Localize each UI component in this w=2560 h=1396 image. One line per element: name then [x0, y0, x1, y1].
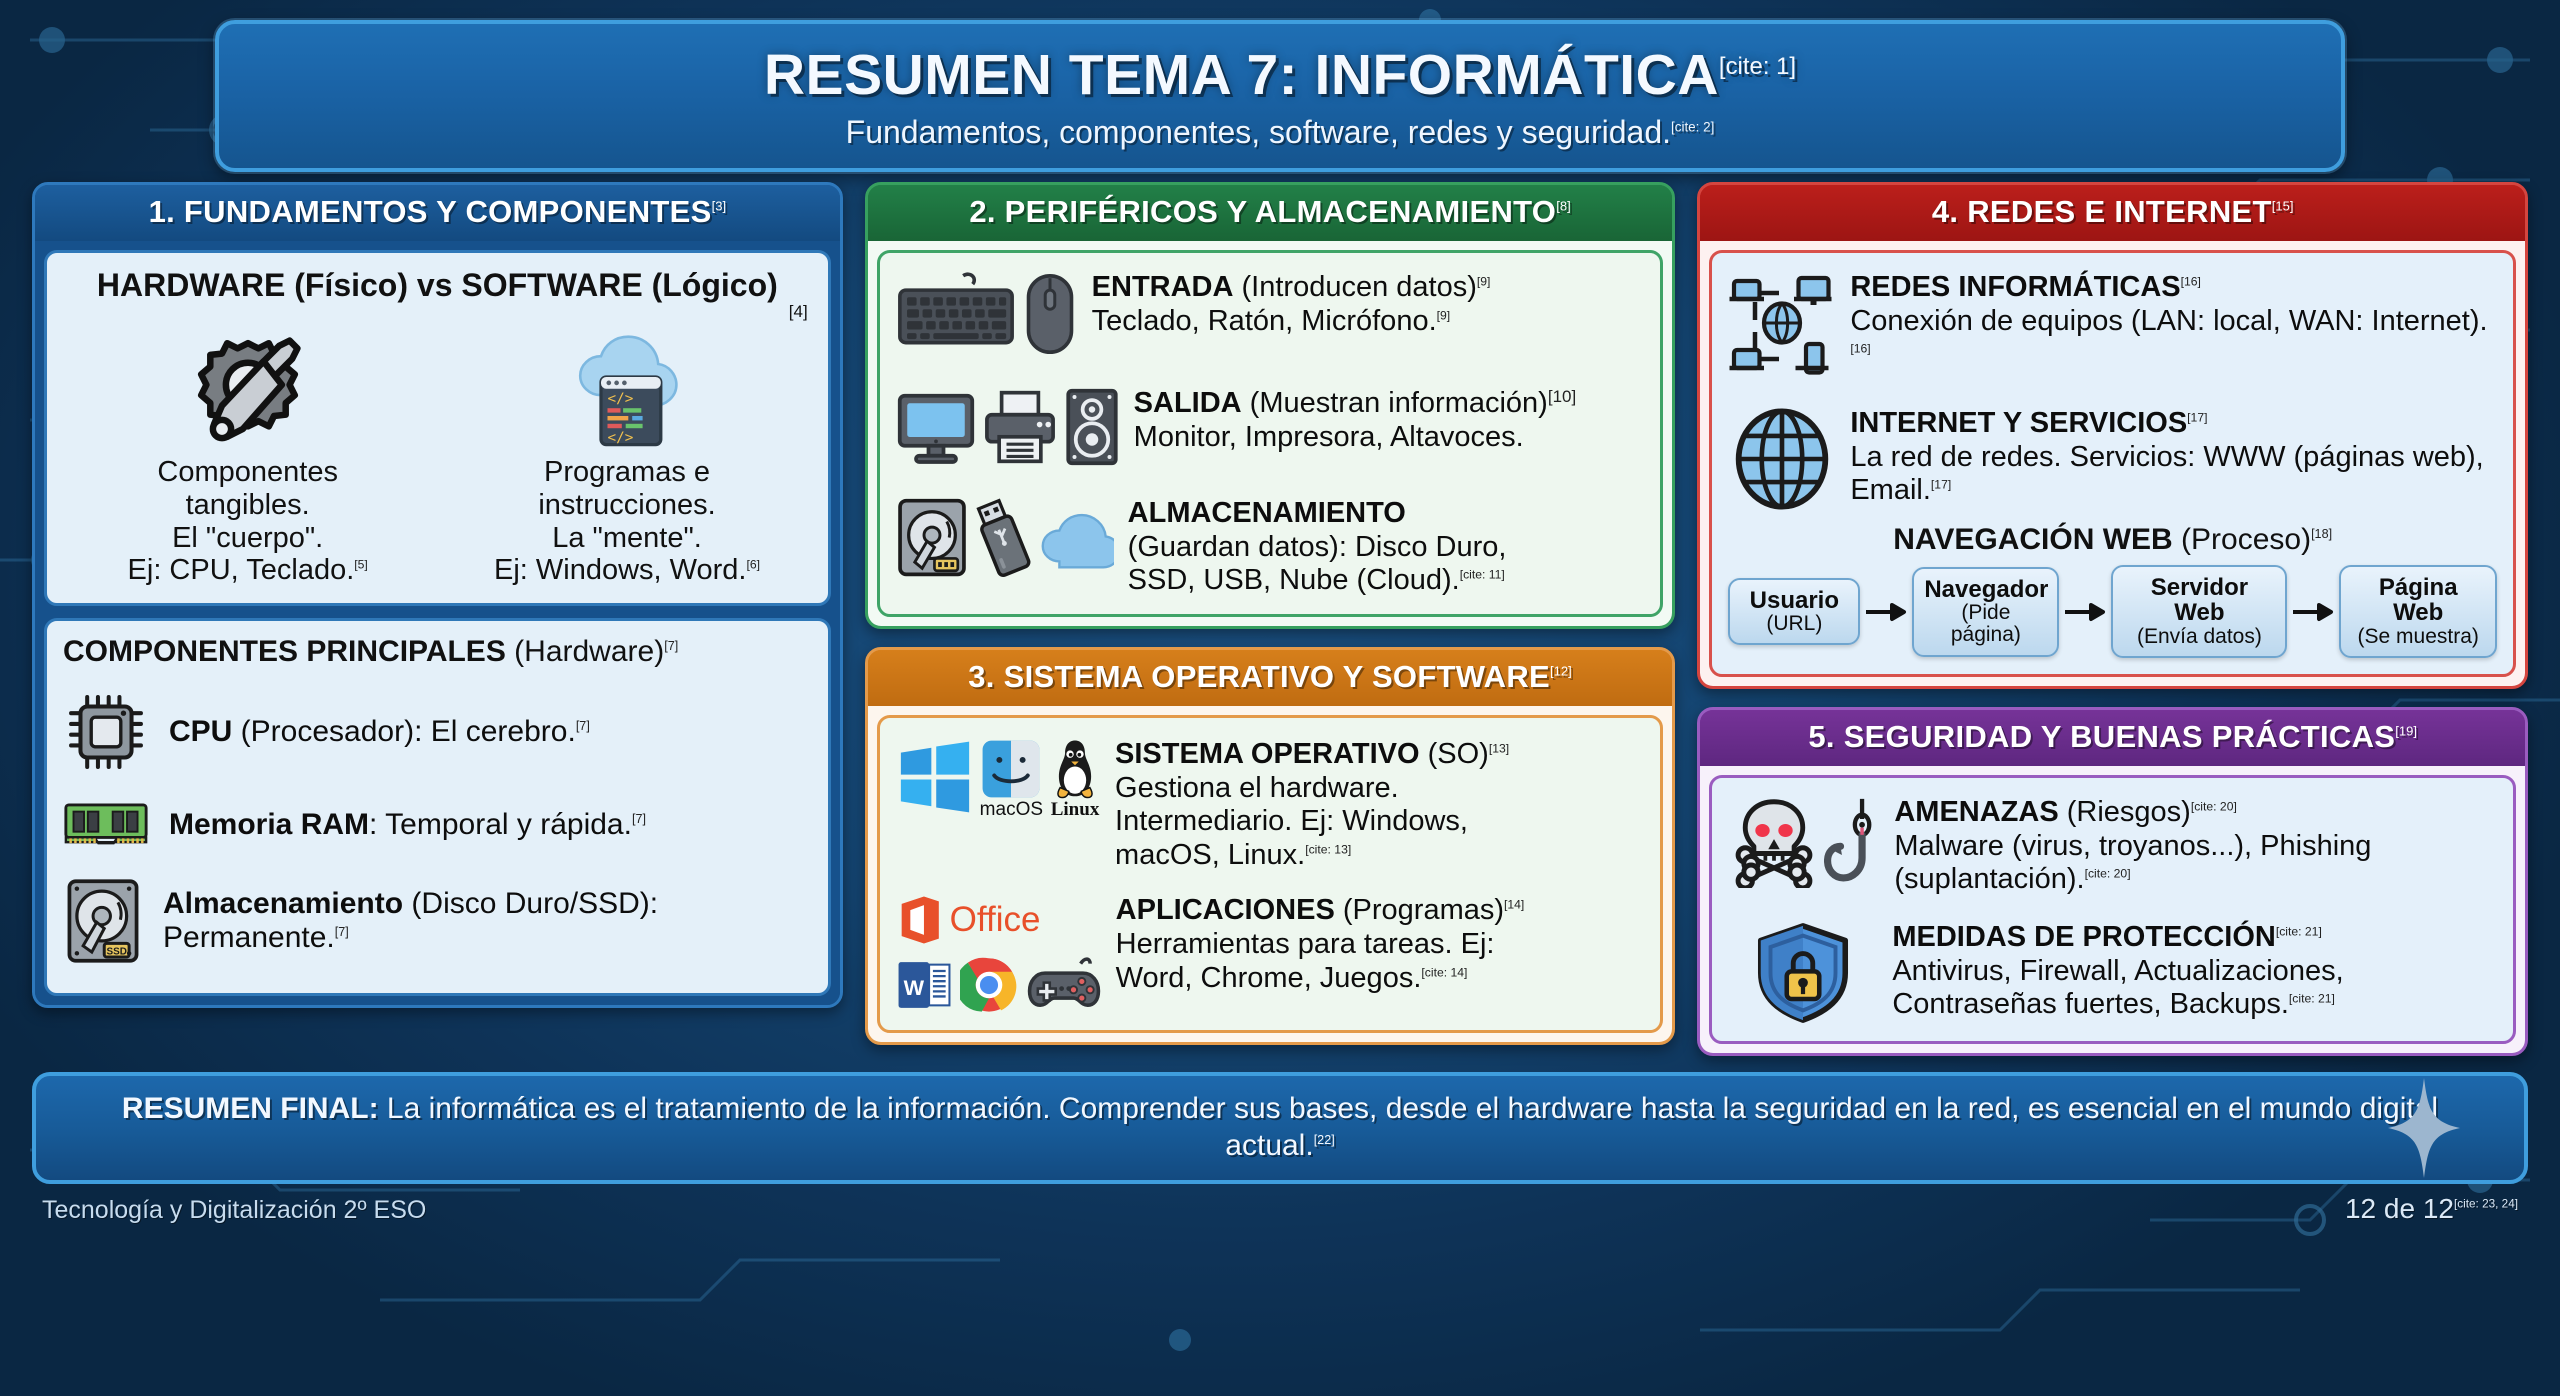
- section-3-body: macOS: [868, 706, 1673, 1043]
- network-devices-icon: [1728, 271, 1836, 381]
- infographic-page: RESUMEN TEMA 7: INFORMÁTICA[cite: 1] Fun…: [0, 0, 2560, 1396]
- section-seguridad: 5. SEGURIDAD Y BUENAS PRÁCTICAS[19]: [1697, 707, 2528, 1056]
- section-3-citation: [12]: [1550, 664, 1572, 679]
- section-1-citation: [3]: [712, 199, 726, 214]
- course-label: Tecnología y Digitalización 2º ESO: [42, 1196, 426, 1225]
- macos-finder-icon: macOS: [980, 738, 1043, 819]
- printer-icon: [982, 387, 1058, 467]
- section-4-citation: [15]: [2272, 199, 2294, 214]
- windows-logo-icon: [896, 738, 974, 816]
- medidas-proteccion-text: MEDIDAS DE PROTECCIÓN[cite: 21] Antiviru…: [1892, 921, 2497, 1022]
- flow-step-navegador[interactable]: Navegador (Pide página): [1912, 567, 2059, 657]
- amenazas-icons: [1728, 796, 1880, 888]
- keyboard-icon: [896, 271, 1016, 357]
- speaker-icon: [1064, 387, 1120, 467]
- macos-label: macOS: [980, 800, 1043, 819]
- internet-servicios-text: INTERNET Y SERVICIOS[17] La red de redes…: [1850, 407, 2497, 508]
- cpu-chip-icon: [63, 689, 149, 775]
- redes-informaticas-text: REDES INFORMÁTICAS[16] Conexión de equip…: [1850, 271, 2497, 372]
- componentes-principales-card: COMPONENTES PRINCIPALES (Hardware)[7]: [44, 618, 831, 996]
- usb-drive-icon: [974, 497, 1032, 583]
- hardware-software-card: HARDWARE (Físico) vs SOFTWARE (Lógico) […: [44, 250, 831, 606]
- list-item: SSD Almacenamiento (Disco Duro/SSD): Per…: [63, 875, 812, 967]
- arrow-icon: [1864, 600, 1908, 624]
- page-number: 12 de 12[cite: 23, 24]: [2345, 1193, 2518, 1225]
- list-item: Office W: [896, 894, 1645, 1014]
- svg-text:W: W: [903, 976, 924, 1001]
- page-title: RESUMEN TEMA 7: INFORMÁTICA[cite: 1]: [764, 42, 1796, 108]
- linux-label: Linux: [1049, 800, 1101, 819]
- fishing-hook-icon: [1824, 796, 1880, 888]
- arrow-icon: [2063, 600, 2107, 624]
- office-label: Office: [950, 900, 1041, 940]
- hard-disk-icon: [896, 497, 968, 583]
- svg-text:SSD: SSD: [106, 947, 126, 958]
- salida-icons: [896, 387, 1120, 467]
- ram-text: Memoria RAM: Temporal y rápida.[7]: [169, 808, 646, 843]
- skull-crossbones-icon: [1728, 796, 1820, 888]
- aplicaciones-logos: Office W: [896, 894, 1102, 1014]
- cloud-icon: [1038, 510, 1114, 570]
- column-right: 4. REDES E INTERNET[15]: [1697, 182, 2528, 1056]
- software-card: macOS: [877, 715, 1664, 1034]
- title-citation: [cite: 1]: [1719, 53, 1796, 80]
- salida-text: [10] SALIDA (Muestran información) Monit…: [1134, 387, 1577, 454]
- section-sistema-operativo: 3. SISTEMA OPERATIVO Y SOFTWARE[12]: [865, 647, 1676, 1046]
- hardware-half: Componentes tangibles. El "cuerpo". Ej: …: [63, 324, 432, 587]
- navegacion-web-flow: Usuario (URL) Navegador (Pide página): [1728, 565, 2497, 658]
- cloud-code-icon: </> </>: [442, 324, 811, 456]
- so-logos: macOS: [896, 738, 1101, 819]
- ram-stick-icon: [63, 795, 149, 855]
- componentes-title: COMPONENTES PRINCIPALES (Hardware)[7]: [63, 635, 812, 669]
- linux-tux-icon: Linux: [1049, 738, 1101, 819]
- footer-meta: Tecnología y Digitalización 2º ESO 12 de…: [32, 1184, 2528, 1225]
- aplicaciones-text: APLICACIONES (Programas)[14] Herramienta…: [1116, 894, 1536, 995]
- section-2-header: 2. PERIFÉRICOS Y ALMACENAMIENTO[8]: [868, 185, 1673, 241]
- list-item: INTERNET Y SERVICIOS[17] La red de redes…: [1728, 407, 2497, 511]
- section-1-header: 1. FUNDAMENTOS Y COMPONENTES[3]: [35, 185, 840, 241]
- list-item: CPU (Procesador): El cerebro.[7]: [63, 689, 812, 775]
- hard-disk-icon: SSD: [63, 875, 143, 967]
- svg-text:</>: </>: [608, 391, 634, 407]
- list-item: macOS: [896, 738, 1645, 873]
- flow-step-servidor-web[interactable]: Servidor Web (Envía datos): [2111, 565, 2287, 658]
- entrada-icons: [896, 271, 1078, 357]
- flow-step-pagina-web[interactable]: Página Web (Se muestra): [2339, 565, 2497, 658]
- software-half: </> </> Programas: [442, 324, 811, 587]
- monitor-icon: [896, 387, 976, 467]
- section-1-body: HARDWARE (Físico) vs SOFTWARE (Lógico) […: [35, 241, 840, 1005]
- column-left: 1. FUNDAMENTOS Y COMPONENTES[3] HARDWARE…: [32, 182, 843, 1008]
- software-description: Programas e instrucciones. La "mente". E…: [442, 456, 811, 587]
- section-2-body: ENTRADA (Introducen datos)[9] Teclado, R…: [868, 241, 1673, 626]
- section-fundamentos: 1. FUNDAMENTOS Y COMPONENTES[3] HARDWARE…: [32, 182, 843, 1008]
- header-banner: RESUMEN TEMA 7: INFORMÁTICA[cite: 1] Fun…: [215, 20, 2345, 172]
- subtitle-citation: [cite: 2]: [1671, 119, 1714, 134]
- resumen-final-text: RESUMEN FINAL: La informática es el trat…: [106, 1091, 2454, 1164]
- mouse-icon: [1022, 271, 1078, 357]
- list-item: ENTRADA (Introducen datos)[9] Teclado, R…: [896, 271, 1645, 357]
- almacenamiento-icons: [896, 497, 1114, 583]
- list-item: Memoria RAM: Temporal y rápida.[7]: [63, 795, 812, 855]
- section-3-header: 3. SISTEMA OPERATIVO Y SOFTWARE[12]: [868, 650, 1673, 706]
- section-2-citation: [8]: [1556, 199, 1570, 214]
- section-4-body: REDES INFORMÁTICAS[16] Conexión de equip…: [1700, 241, 2525, 686]
- navegacion-web-title: NAVEGACIÓN WEB (Proceso)[18]: [1728, 523, 2497, 557]
- list-item: AMENAZAS (Riesgos)[cite: 20] Malware (vi…: [1728, 796, 2497, 897]
- seguridad-card: AMENAZAS (Riesgos)[cite: 20] Malware (vi…: [1709, 775, 2516, 1044]
- almacenamiento-text: ALMACENAMIENTO (Guardan datos): Disco Du…: [1128, 497, 1528, 598]
- section-5-citation: [19]: [2395, 724, 2417, 739]
- list-item: MEDIDAS DE PROTECCIÓN[cite: 21] Antiviru…: [1728, 921, 2497, 1025]
- entrada-text: ENTRADA (Introducen datos)[9] Teclado, R…: [1092, 271, 1491, 338]
- hardware-software-title: HARDWARE (Físico) vs SOFTWARE (Lógico): [63, 267, 812, 304]
- gear-wrench-icon: [63, 324, 432, 456]
- flow-step-usuario[interactable]: Usuario (URL): [1728, 578, 1860, 646]
- hardware-software-citation: [4]: [63, 302, 808, 322]
- section-4-header: 4. REDES E INTERNET[15]: [1700, 185, 2525, 241]
- page-subtitle: Fundamentos, componentes, software, rede…: [846, 114, 1715, 151]
- arrow-icon: [2291, 600, 2335, 624]
- sistema-operativo-text: SISTEMA OPERATIVO (SO)[13] Gestiona el h…: [1115, 738, 1535, 873]
- section-5-header: 5. SEGURIDAD Y BUENAS PRÁCTICAS[19]: [1700, 710, 2525, 766]
- shield-lock-icon: [1728, 921, 1878, 1025]
- globe-icon: [1728, 407, 1836, 511]
- almacenamiento-text: Almacenamiento (Disco Duro/SSD): Permane…: [163, 887, 723, 956]
- resumen-final-banner: RESUMEN FINAL: La informática es el trat…: [32, 1072, 2528, 1184]
- office-logo-icon: Office: [896, 894, 1041, 946]
- section-perifericos: 2. PERIFÉRICOS Y ALMACENAMIENTO[8]: [865, 182, 1676, 629]
- componentes-citation: [7]: [664, 639, 678, 653]
- section-redes: 4. REDES E INTERNET[15]: [1697, 182, 2528, 689]
- perifericos-card: ENTRADA (Introducen datos)[9] Teclado, R…: [877, 250, 1664, 617]
- svg-text:</>: </>: [608, 430, 634, 446]
- hardware-description: Componentes tangibles. El "cuerpo". Ej: …: [63, 456, 432, 587]
- software-citation: [6]: [746, 558, 760, 572]
- list-item: REDES INFORMÁTICAS[16] Conexión de equip…: [1728, 271, 2497, 381]
- chrome-logo-icon: [960, 956, 1018, 1014]
- cpu-text: CPU (Procesador): El cerebro.[7]: [169, 715, 590, 750]
- list-item: [10] SALIDA (Muestran información) Monit…: [896, 387, 1645, 467]
- columns-container: 1. FUNDAMENTOS Y COMPONENTES[3] HARDWARE…: [26, 182, 2534, 1056]
- sparkle-icon: [2386, 1076, 2462, 1180]
- redes-card: REDES INFORMÁTICAS[16] Conexión de equip…: [1709, 250, 2516, 677]
- amenazas-text: AMENAZAS (Riesgos)[cite: 20] Malware (vi…: [1894, 796, 2497, 897]
- hardware-citation: [5]: [354, 558, 368, 572]
- footer: RESUMEN FINAL: La informática es el trat…: [26, 1072, 2534, 1225]
- column-middle: 2. PERIFÉRICOS Y ALMACENAMIENTO[8]: [865, 182, 1676, 1045]
- gamepad-icon: [1026, 956, 1102, 1014]
- word-logo-icon: W: [896, 957, 952, 1013]
- section-5-body: AMENAZAS (Riesgos)[cite: 20] Malware (vi…: [1700, 766, 2525, 1053]
- list-item: ALMACENAMIENTO (Guardan datos): Disco Du…: [896, 497, 1645, 598]
